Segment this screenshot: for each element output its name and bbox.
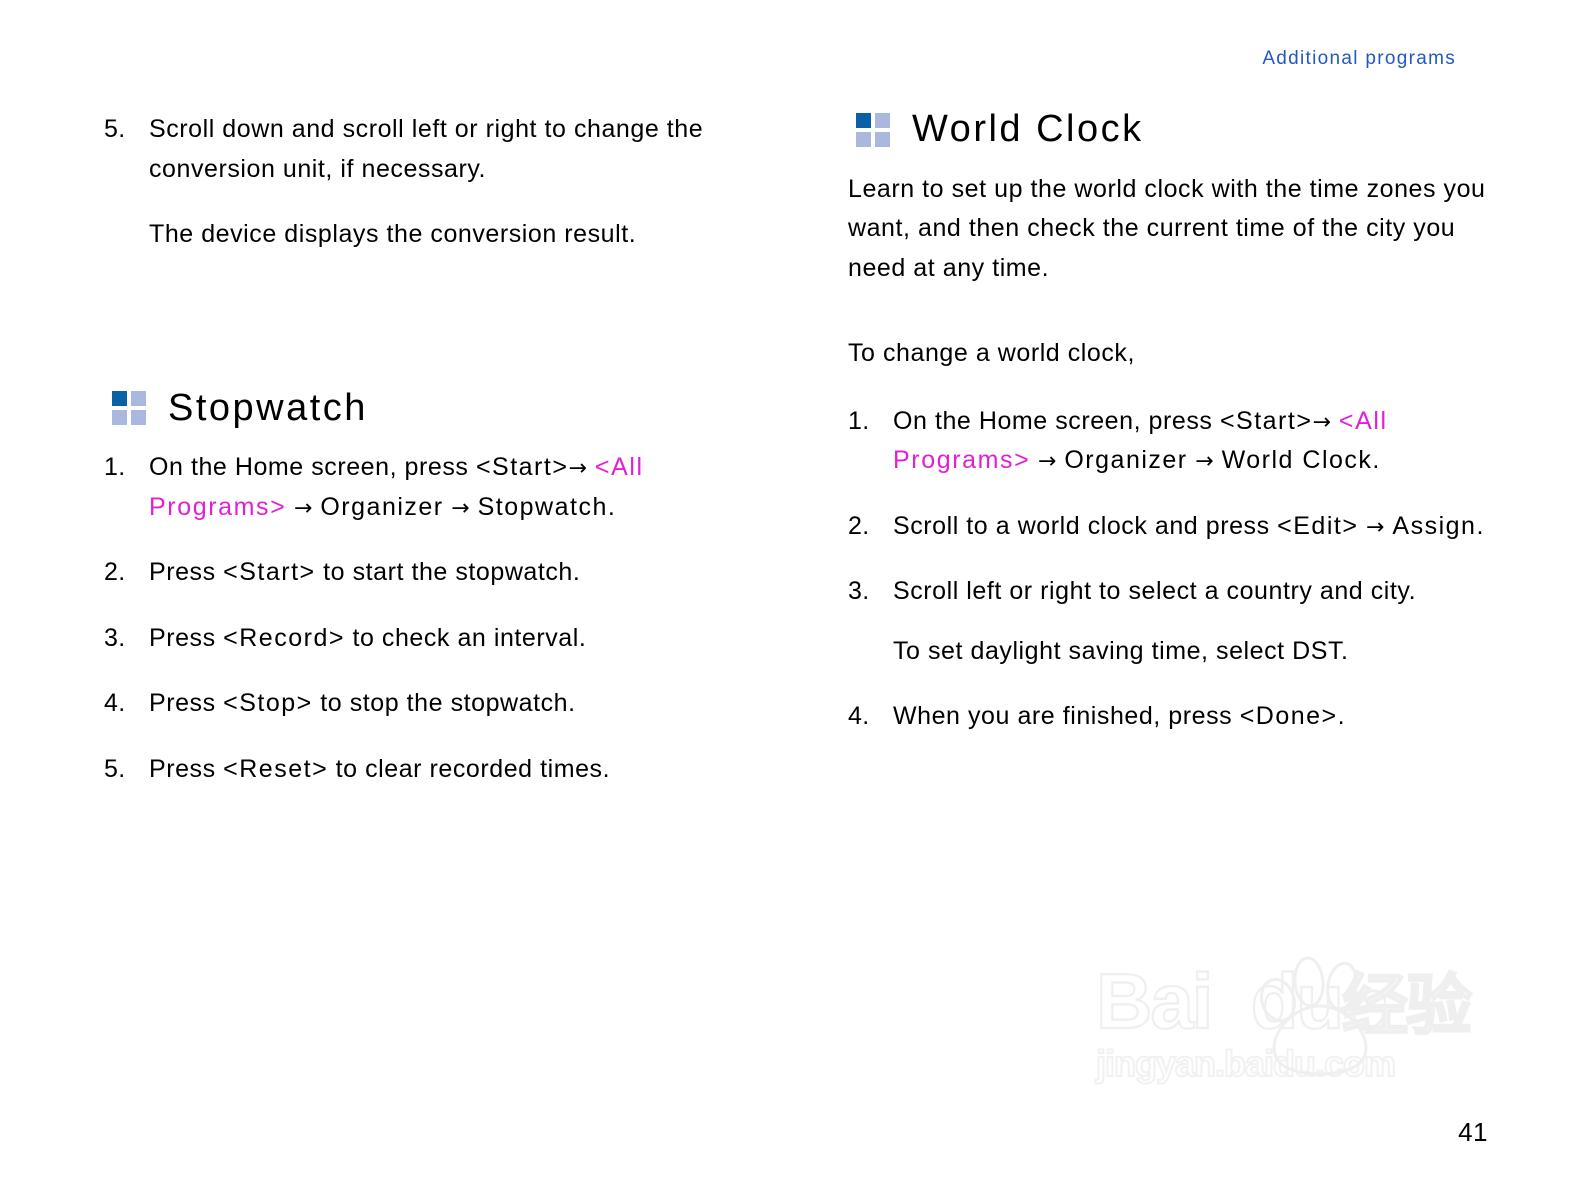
list-marker: 1. xyxy=(104,448,149,527)
section-title: Stopwatch xyxy=(168,389,368,429)
softkey-label: <Start> xyxy=(1220,407,1313,435)
list-marker: 4. xyxy=(848,697,893,737)
step-text-suffix: . xyxy=(1338,702,1346,730)
softkey-label: <Start> xyxy=(223,558,316,586)
step-text-prefix: Press xyxy=(149,624,223,652)
running-header: Additional programs xyxy=(1262,48,1456,70)
section-intro: Learn to set up the world clock with the… xyxy=(848,170,1504,289)
baidu-wordmark-part2: du xyxy=(1251,957,1342,1045)
step-text-prefix: Scroll to a world clock and press xyxy=(893,512,1277,540)
list-item-text: Press <Record> to check an interval. xyxy=(149,619,760,659)
step-text-prefix: When you are finished, press xyxy=(893,702,1240,730)
softkey-label: <Start> xyxy=(476,453,569,481)
step-text-suffix: to stop the stopwatch. xyxy=(313,689,576,717)
list-item-text: Scroll to a world clock and press <Edit>… xyxy=(893,507,1504,547)
arrow-icon: → xyxy=(1366,515,1385,540)
step-text-suffix: to clear recorded times. xyxy=(328,755,610,783)
arrow-icon: → xyxy=(1312,410,1331,435)
list-item: 2. Press <Start> to start the stopwatch. xyxy=(104,553,760,593)
list-item-text: Press <Stop> to stop the stopwatch. xyxy=(149,684,760,724)
four-squares-icon xyxy=(112,391,146,425)
list-item: 3. Scroll left or right to select a coun… xyxy=(848,572,1504,612)
softkey-label: <Stop> xyxy=(223,689,313,717)
step-text-prefix: Press xyxy=(149,558,223,586)
list-item: 4. When you are finished, press <Done>. xyxy=(848,697,1504,737)
list-item-text: When you are finished, press <Done>. xyxy=(893,697,1504,737)
step-text-prefix: Press xyxy=(149,755,223,783)
menu-path-item: Stopwatch. xyxy=(478,493,617,521)
list-marker: 5. xyxy=(104,750,149,790)
list-item-text: Scroll down and scroll left or right to … xyxy=(149,110,760,189)
arrow-icon: → xyxy=(1195,449,1214,474)
menu-path-item: Organizer xyxy=(1064,446,1187,474)
list-item: 4. Press <Stop> to stop the stopwatch. xyxy=(104,684,760,724)
softkey-label: <Record> xyxy=(223,624,345,652)
list-marker: 2. xyxy=(848,507,893,547)
arrow-icon: → xyxy=(568,456,587,481)
list-marker: 5. xyxy=(104,110,149,189)
section-gap xyxy=(104,281,760,389)
menu-path-item: World Clock. xyxy=(1222,446,1381,474)
list-item-text: On the Home screen, press <Start>→ <All … xyxy=(893,402,1504,481)
list-marker: 3. xyxy=(104,619,149,659)
page-body: 5. Scroll down and scroll left or right … xyxy=(0,110,1584,815)
list-marker: 4. xyxy=(104,684,149,724)
list-item: 1. On the Home screen, press <Start>→ <A… xyxy=(848,402,1504,481)
step-text-suffix: to start the stopwatch. xyxy=(316,558,581,586)
step-note: To set daylight saving time, select DST. xyxy=(848,632,1504,672)
baidu-wordmark-cn: 经验 xyxy=(1342,968,1470,1042)
baidu-wordmark-part1: Bai xyxy=(1096,957,1211,1045)
baidu-wordmark: Bai..du经验 xyxy=(1096,962,1516,1040)
list-item-text: Press <Reset> to clear recorded times. xyxy=(149,750,760,790)
baidu-watermark: Bai..du经验 jingyan.baidu.com xyxy=(1096,962,1516,1122)
list-item-text: Scroll left or right to select a country… xyxy=(893,572,1504,612)
paw-print-icon xyxy=(1248,956,1386,1076)
list-marker: 3. xyxy=(848,572,893,612)
baidu-watermark-url: jingyan.baidu.com xyxy=(1096,1046,1516,1082)
arrow-icon: → xyxy=(294,496,313,521)
list-item: 3. Press <Record> to check an interval. xyxy=(104,619,760,659)
list-item: 1. On the Home screen, press <Start>→ <A… xyxy=(104,448,760,527)
list-item: 5. Scroll down and scroll left or right … xyxy=(104,110,760,189)
softkey-label: <Reset> xyxy=(223,755,328,783)
list-item-text: Press <Start> to start the stopwatch. xyxy=(149,553,760,593)
step-text-prefix: On the Home screen, press xyxy=(893,407,1220,435)
list-marker: 2. xyxy=(104,553,149,593)
page-number: 41 xyxy=(1458,1117,1488,1148)
softkey-label: <Edit> xyxy=(1277,512,1358,540)
section-lead-in: To change a world clock, xyxy=(848,334,1504,374)
world-clock-heading: World Clock xyxy=(856,110,1504,150)
list-marker: 1. xyxy=(848,402,893,481)
left-column: 5. Scroll down and scroll left or right … xyxy=(104,110,760,815)
list-item-text: On the Home screen, press <Start>→ <All … xyxy=(149,448,760,527)
list-item: 5. Press <Reset> to clear recorded times… xyxy=(104,750,760,790)
continued-note: The device displays the conversion resul… xyxy=(104,215,760,255)
four-squares-icon xyxy=(856,113,890,147)
arrow-icon: → xyxy=(1038,449,1057,474)
section-title: World Clock xyxy=(912,110,1144,150)
step-text-suffix: to check an interval. xyxy=(345,624,586,652)
step-text-prefix: Press xyxy=(149,689,223,717)
menu-path-item: Assign. xyxy=(1392,512,1484,540)
softkey-label: <Done> xyxy=(1240,702,1338,730)
list-item: 2. Scroll to a world clock and press <Ed… xyxy=(848,507,1504,547)
step-text-prefix: On the Home screen, press xyxy=(149,453,476,481)
arrow-icon: → xyxy=(451,496,470,521)
menu-path-item: Organizer xyxy=(320,493,443,521)
right-column: World Clock Learn to set up the world cl… xyxy=(848,110,1504,815)
stopwatch-heading: Stopwatch xyxy=(112,389,760,429)
